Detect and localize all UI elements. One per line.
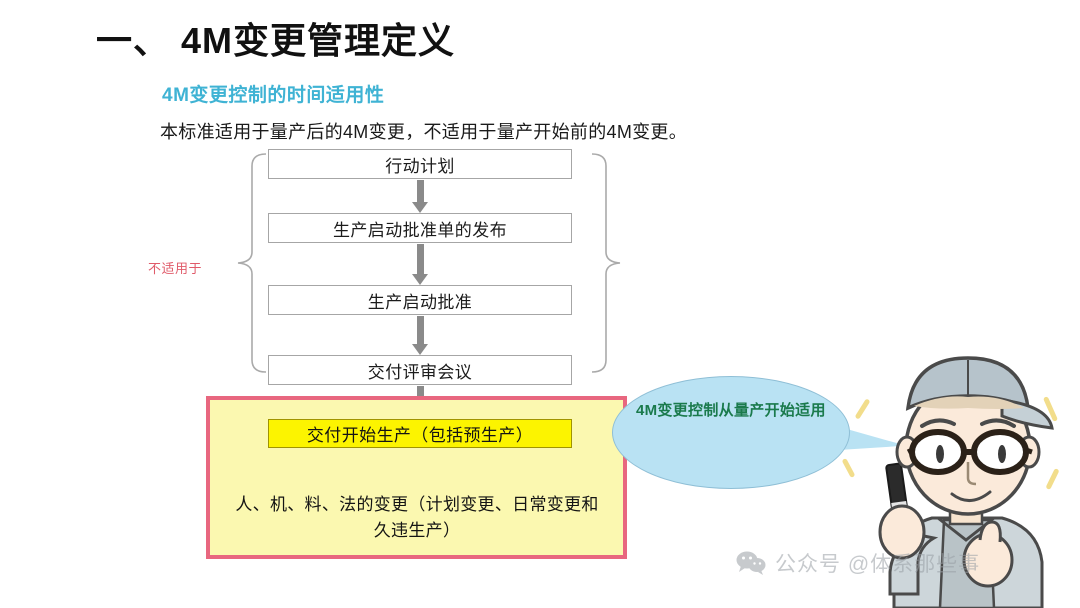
highlight-caption: 人、机、料、法的变更（计划变更、日常变更和久违生产） <box>232 492 602 543</box>
flow-box-delivery-review-meeting: 交付评审会议 <box>268 355 572 385</box>
flow-arrow-down-icon <box>417 244 424 275</box>
slide-canvas: 一、 4M变更管理定义 4M变更控制的时间适用性 本标准适用于量产后的4M变更，… <box>0 0 1080 608</box>
highlight-box-start-production: 交付开始生产（包括预生产） <box>268 419 572 448</box>
left-brace-icon <box>232 152 268 374</box>
watermark-text: 公众号 @体系那些事 <box>775 548 980 578</box>
body-paragraph: 本标准适用于量产后的4M变更，不适用于量产开始前的4M变更。 <box>160 118 687 144</box>
watermark: 公众号 @体系那些事 <box>736 548 980 578</box>
wechat-icon <box>736 551 766 575</box>
flow-arrow-down-icon <box>417 180 424 203</box>
callout-text: 4M变更控制从量产开始适用 <box>636 400 826 422</box>
callout-bubble <box>612 376 850 489</box>
not-applicable-label: 不适用于 <box>148 258 202 277</box>
flow-box-action-plan: 行动计划 <box>268 149 572 179</box>
flow-box-production-approval: 生产启动批准 <box>268 285 572 315</box>
right-brace-icon <box>590 152 626 374</box>
page-title: 一、 4M变更管理定义 <box>96 20 455 61</box>
section-subtitle: 4M变更控制的时间适用性 <box>162 80 384 107</box>
flow-arrow-down-icon <box>417 316 424 345</box>
flow-box-production-approval-release: 生产启动批准单的发布 <box>268 213 572 243</box>
